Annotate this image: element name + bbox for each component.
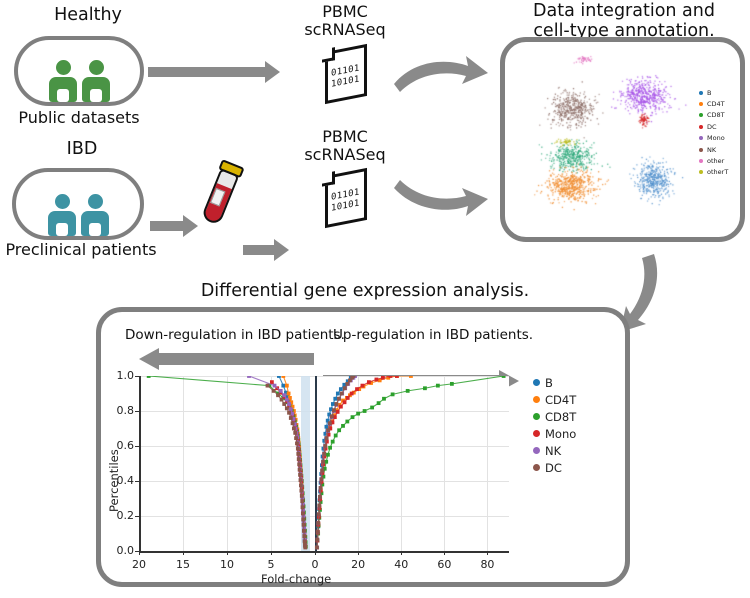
umap-legend-label: Mono — [707, 134, 725, 142]
umap-scatter-plot — [511, 46, 691, 236]
legend-dot-icon — [699, 136, 703, 140]
seq-top-label: PBMC scRNASeq — [290, 3, 400, 39]
dge-title: Differential gene expression analysis. — [175, 282, 555, 302]
umap-legend-item: other — [699, 155, 728, 166]
chart-legend-label: Mono — [545, 427, 576, 441]
x-tick — [139, 551, 140, 555]
chart-legend-label: NK — [545, 444, 561, 458]
arrow-ibd-to-sample — [150, 214, 198, 238]
umap-legend-item: Mono — [699, 133, 728, 144]
legend-dot-icon — [699, 159, 703, 163]
umap-legend-label: CD4T — [707, 100, 725, 108]
umap-legend-item: NK — [699, 144, 728, 155]
down-regulation-label: Down-regulation in IBD patients. — [125, 328, 345, 343]
umap-legend-label: CD8T — [707, 111, 725, 119]
ibd-people-icon — [16, 172, 140, 236]
chart-legend-item: NK — [533, 442, 576, 459]
umap-panel: BCD4TCD8TDCMonoNKotherotherT — [500, 37, 745, 242]
down-regulation-arrow — [139, 348, 314, 370]
chart-legend-label: B — [545, 376, 553, 390]
legend-dot-icon — [699, 170, 703, 174]
x-tick — [227, 551, 228, 555]
legend-dot-icon — [699, 102, 703, 106]
x-tick-label: 40 — [387, 558, 415, 571]
ibd-group-pill — [12, 168, 144, 240]
dge-panel: Down-regulation in IBD patients. Up-regu… — [96, 307, 630, 587]
umap-title: Data integration and cell-type annotatio… — [508, 2, 740, 41]
y-tick-label: 1.0 — [107, 369, 134, 382]
chart-legend-item: CD4T — [533, 391, 576, 408]
x-tick-label: 20 — [125, 558, 153, 571]
umap-legend: BCD4TCD8TDCMonoNKotherotherT — [699, 87, 728, 178]
x-axis-line — [139, 551, 509, 553]
series-overlay — [139, 376, 509, 551]
binary-document-icon-bottom: 01101 10101 — [325, 172, 371, 228]
legend-dot-icon — [533, 379, 540, 386]
healthy-group-pill — [14, 36, 144, 106]
x-tick — [487, 551, 488, 555]
umap-legend-item: otherT — [699, 167, 728, 178]
legend-dot-icon — [699, 125, 703, 129]
arrow-sample-to-seq — [243, 238, 289, 262]
x-tick-label: 60 — [430, 558, 458, 571]
chart-legend-item: DC — [533, 459, 576, 476]
legend-dot-icon — [533, 447, 540, 454]
healthy-title: Healthy — [18, 6, 158, 26]
chart-legend: BCD4TCD8TMonoNKDC — [533, 374, 576, 476]
umap-legend-item: DC — [699, 121, 728, 132]
chart-legend-label: DC — [545, 461, 562, 475]
y-axis-label: Percentiles — [107, 449, 121, 512]
chart-legend-item: CD8T — [533, 408, 576, 425]
x-tick — [315, 551, 316, 555]
arrow-healthy-to-seq — [148, 60, 280, 84]
umap-legend-label: otherT — [707, 168, 728, 176]
umap-legend-label: DC — [707, 123, 717, 131]
blood-collection-tube-icon — [203, 166, 237, 226]
x-tick — [401, 551, 402, 555]
x-tick-label: 20 — [344, 558, 372, 571]
x-tick-label: 10 — [213, 558, 241, 571]
ibd-title: IBD — [22, 140, 142, 160]
umap-legend-label: other — [707, 157, 724, 165]
seq-bottom-label: PBMC scRNASeq — [290, 128, 400, 164]
ibd-caption: Preclinical patients — [0, 241, 162, 259]
up-regulation-label: Up-regulation in IBD patients. — [333, 328, 533, 343]
legend-dot-icon — [699, 91, 703, 95]
umap-legend-label: NK — [707, 146, 716, 154]
healthy-people-icon — [18, 40, 140, 102]
x-tick — [271, 551, 272, 555]
x-tick — [358, 551, 359, 555]
legend-dot-icon — [699, 148, 703, 152]
x-axis-label: Fold-change — [261, 572, 331, 586]
legend-dot-icon — [533, 430, 540, 437]
healthy-caption: Public datasets — [8, 109, 150, 127]
chart-legend-label: CD8T — [545, 410, 576, 424]
arrow-seq-top-to-umap — [392, 54, 490, 98]
umap-legend-item: CD4T — [699, 98, 728, 109]
x-tick-label: 5 — [257, 558, 285, 571]
chart-legend-item: B — [533, 374, 576, 391]
series-CD8T — [147, 376, 506, 549]
legend-dot-icon — [533, 464, 540, 471]
x-tick-label: 0 — [301, 558, 329, 571]
chart-legend-label: CD4T — [545, 393, 576, 407]
x-tick-label: 80 — [473, 558, 501, 571]
chart-legend-item: Mono — [533, 425, 576, 442]
y-tick-label: 0.8 — [107, 404, 134, 417]
umap-legend-item: B — [699, 87, 728, 98]
umap-legend-item: CD8T — [699, 110, 728, 121]
percentile-plot: 0.00.20.40.60.81.02015105020406080 — [139, 376, 509, 551]
umap-legend-label: B — [707, 89, 711, 97]
figure-canvas: Healthy Public datasets IBD Preclinical … — [0, 0, 750, 598]
y-tick-label: 0.0 — [107, 544, 134, 557]
x-tick-label: 15 — [169, 558, 197, 571]
legend-dot-icon — [533, 396, 540, 403]
binary-document-icon-top: 01101 10101 — [325, 48, 371, 104]
x-tick — [183, 551, 184, 555]
arrow-seq-bottom-to-umap — [392, 174, 490, 218]
legend-dot-icon — [699, 113, 703, 117]
legend-dot-icon — [533, 413, 540, 420]
x-tick — [444, 551, 445, 555]
